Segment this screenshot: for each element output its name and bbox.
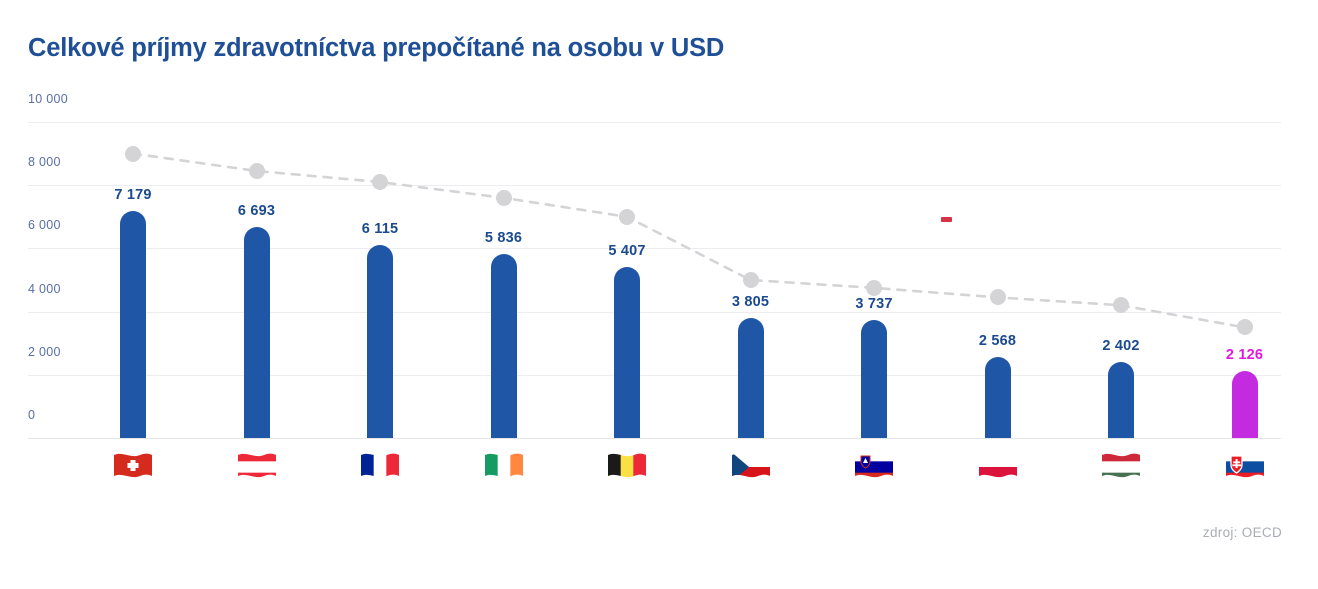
bar-czechia[interactable] <box>738 318 764 438</box>
bar-value-label: 7 179 <box>114 187 151 203</box>
bar-belgium[interactable] <box>614 267 640 438</box>
chart-plot-area: 02 0004 0006 0008 00010 0007 1796 6936 1… <box>0 0 1318 589</box>
flag-belgium <box>605 450 649 484</box>
chart-source-label: zdroj: OECD <box>1203 525 1282 540</box>
flag-ireland <box>482 450 526 484</box>
y-axis-tick-6000: 6 000 <box>28 218 61 232</box>
bar-value-label: 2 126 <box>1226 347 1263 363</box>
stray-red-mark-artifact <box>941 217 952 222</box>
flag-poland <box>976 450 1020 484</box>
bar-value-label: 6 115 <box>362 221 399 237</box>
bar-value-label: 3 805 <box>732 294 769 310</box>
bar-value-label: 6 693 <box>238 203 275 219</box>
gridline-0 <box>28 438 1281 439</box>
y-axis-tick-4000: 4 000 <box>28 282 61 296</box>
bar-austria[interactable] <box>244 227 270 438</box>
bar-hungary[interactable] <box>1108 362 1134 438</box>
bar-ireland[interactable] <box>491 254 517 438</box>
bar-value-label: 5 836 <box>485 230 522 246</box>
flag-austria <box>235 450 279 484</box>
y-axis-tick-8000: 8 000 <box>28 155 61 169</box>
chart-page: Celkové príjmy zdravotníctva prepočítané… <box>0 0 1318 589</box>
bar-slovakia[interactable] <box>1232 371 1258 438</box>
flag-france <box>358 450 402 484</box>
bar-france[interactable] <box>367 245 393 438</box>
bar-value-label: 5 407 <box>608 243 645 259</box>
gridline-6000 <box>28 248 1281 249</box>
y-axis-tick-2000: 2 000 <box>28 345 61 359</box>
flag-slovenia <box>852 450 896 484</box>
gridline-8000 <box>28 185 1281 186</box>
gridline-2000 <box>28 375 1281 376</box>
bar-value-label: 3 737 <box>855 296 892 312</box>
bar-poland[interactable] <box>985 357 1011 438</box>
bar-value-label: 2 402 <box>1102 338 1139 354</box>
y-axis-tick-10000: 10 000 <box>28 92 68 106</box>
bar-slovenia[interactable] <box>861 320 887 438</box>
gridline-top <box>28 122 1281 123</box>
flag-czechia <box>729 450 773 484</box>
bar-switzerland[interactable] <box>120 211 146 438</box>
y-axis-tick-0: 0 <box>28 408 35 422</box>
bar-value-label: 2 568 <box>979 333 1016 349</box>
flag-switzerland <box>111 450 155 484</box>
gridline-4000 <box>28 312 1281 313</box>
flag-hungary <box>1099 450 1143 484</box>
flag-slovakia <box>1223 450 1267 484</box>
